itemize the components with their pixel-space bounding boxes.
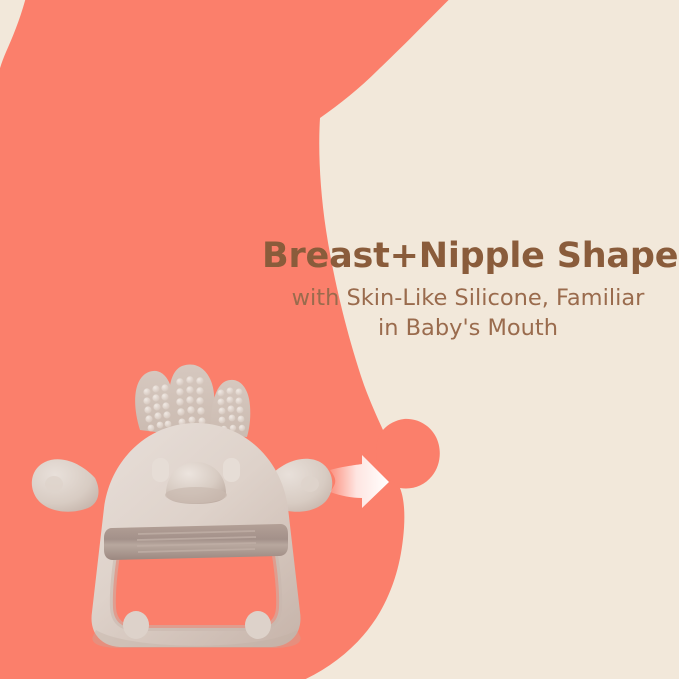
subtitle: with Skin-Like Silicone, Familiar in Bab… (262, 283, 674, 344)
page-title: Breast+Nipple Shape (262, 238, 674, 276)
subtitle-line-1: with Skin-Like Silicone, Familiar (262, 283, 674, 314)
subtitle-line-2: in Baby's Mouth (262, 313, 674, 344)
marketing-image-canvas: Breast+Nipple Shape with Skin-Like Silic… (0, 0, 679, 679)
arrow-glyph (330, 455, 389, 508)
marketing-copy: Breast+Nipple Shape with Skin-Like Silic… (262, 238, 674, 344)
